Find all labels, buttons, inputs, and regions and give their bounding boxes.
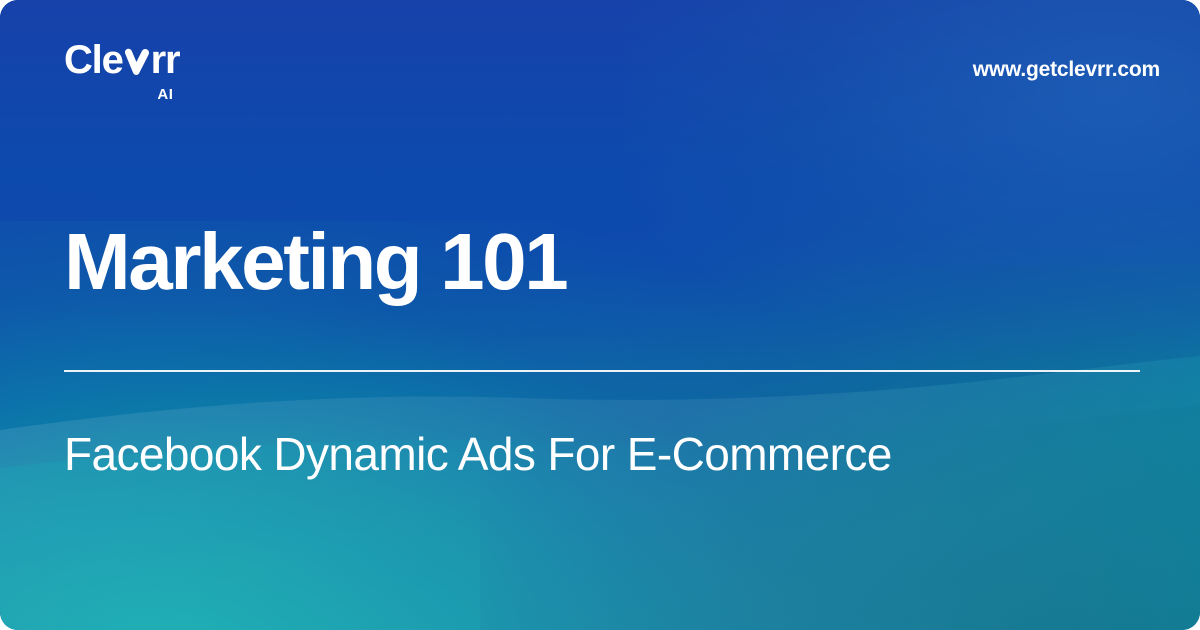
page-subtitle: Facebook Dynamic Ads For E-Commerce [64,424,964,486]
brand-logo-text-before: Cle [64,40,123,80]
checkmark-heart-icon [124,47,150,77]
brand-logo[interactable]: Cle rr AI [64,40,179,102]
card-header: Cle rr AI www.getclevrr.com [64,40,1160,102]
brand-logo-text-after: rr [151,40,180,80]
social-share-card: Cle rr AI www.getclevrr.com Marketing 10… [0,0,1200,630]
title-divider [64,370,1140,372]
brand-logo-wordmark: Cle rr [64,40,179,80]
brand-logo-subtext: AI [157,87,173,102]
card-content: Cle rr AI www.getclevrr.com Marketing 10… [0,0,1200,630]
page-title: Marketing 101 [64,222,1136,302]
site-url[interactable]: www.getclevrr.com [973,58,1160,82]
